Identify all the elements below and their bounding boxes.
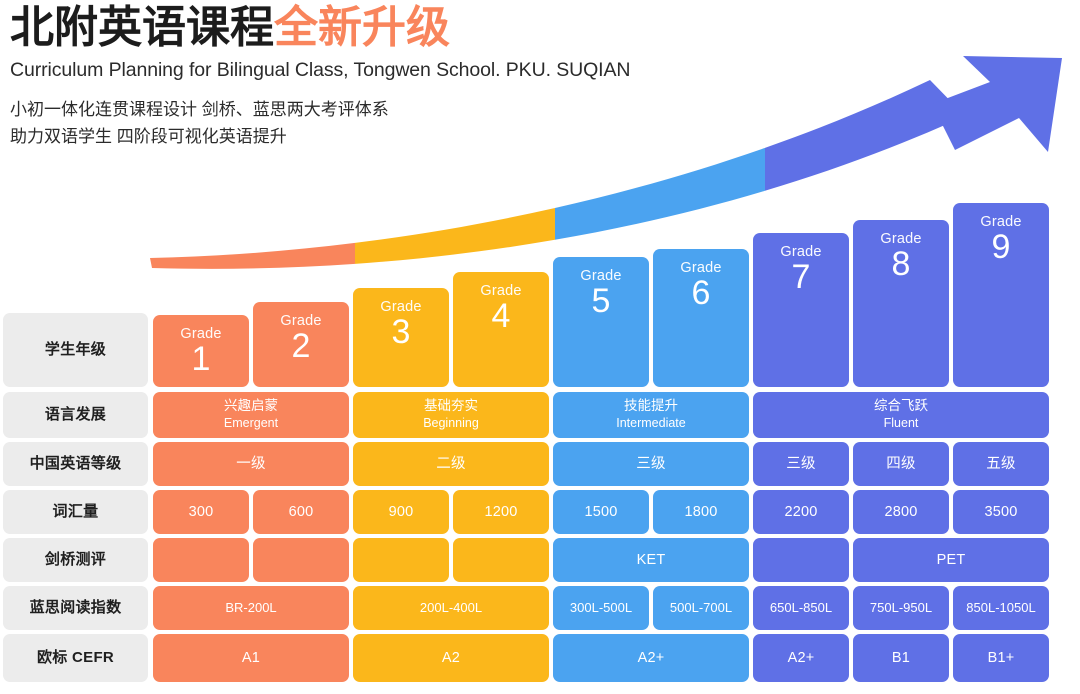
grade-number: 6 xyxy=(692,276,711,311)
grade-number: 1 xyxy=(192,342,211,377)
grade-word: Grade xyxy=(480,282,521,300)
cambridge-assessment-cell-5: KET xyxy=(553,538,749,582)
grade-number: 5 xyxy=(592,284,611,319)
cefr-level-cell-3: A2+ xyxy=(553,634,749,682)
cambridge-assessment-cell-3 xyxy=(353,538,449,582)
cefr-level-cell-4: A2+ xyxy=(753,634,849,682)
cell-value: 1200 xyxy=(484,503,517,521)
cell-value: 五级 xyxy=(986,455,1015,473)
lexile-index-cell-1: BR-200L xyxy=(153,586,349,630)
grade-card-4: Grade4 xyxy=(453,272,549,387)
page-title: 北附英语课程全新升级 xyxy=(10,4,730,52)
vocabulary-cell-7: 2200 xyxy=(753,490,849,534)
cambridge-assessment-cell-6 xyxy=(753,538,849,582)
grade-word: Grade xyxy=(580,267,621,285)
cell-value: 2200 xyxy=(784,503,817,521)
cell-value: 750L-950L xyxy=(870,600,932,616)
lexile-index-cell-7: 850L-1050L xyxy=(953,586,1049,630)
lexile-index-cell-5: 650L-850L xyxy=(753,586,849,630)
vocabulary-cell-9: 3500 xyxy=(953,490,1049,534)
cell-value: A2+ xyxy=(788,649,815,667)
cell-value: 1500 xyxy=(584,503,617,521)
grade-card-1: Grade1 xyxy=(153,315,249,387)
language-development-cell-4: 综合飞跃Fluent xyxy=(753,392,1049,438)
language-development-cell-3: 技能提升Intermediate xyxy=(553,392,749,438)
stage-label-cn: 综合飞跃 xyxy=(874,398,928,415)
lexile-index-cell-4: 500L-700L xyxy=(653,586,749,630)
cell-value: B1 xyxy=(892,649,910,667)
cell-value: 三级 xyxy=(786,455,815,473)
row-label-text: 语言发展 xyxy=(45,406,106,425)
subtitle-english: Curriculum Planning for Bilingual Class,… xyxy=(10,59,730,82)
cell-value: 二级 xyxy=(436,455,465,473)
vocabulary-cell-8: 2800 xyxy=(853,490,949,534)
row-label-2: 语言发展 xyxy=(3,392,148,438)
cell-value: 600 xyxy=(289,503,314,521)
grade-card-6: Grade6 xyxy=(653,249,749,387)
vocabulary-cell-4: 1200 xyxy=(453,490,549,534)
grade-card-7: Grade7 xyxy=(753,233,849,387)
grade-number: 9 xyxy=(992,230,1011,265)
row-label-3: 中国英语等级 xyxy=(3,442,148,486)
subtitle-chinese-line-2: 助力双语学生 四阶段可视化英语提升 xyxy=(10,123,730,151)
grade-word: Grade xyxy=(680,259,721,277)
grade-card-5: Grade5 xyxy=(553,257,649,387)
grade-word: Grade xyxy=(380,298,421,316)
cell-value: 300 xyxy=(189,503,214,521)
grade-number: 7 xyxy=(792,260,811,295)
grade-card-2: Grade2 xyxy=(253,302,349,387)
cell-value: 3500 xyxy=(984,503,1017,521)
cefr-level-cell-2: A2 xyxy=(353,634,549,682)
cambridge-assessment-cell-1 xyxy=(153,538,249,582)
language-development-cell-1: 兴趣启蒙Emergent xyxy=(153,392,349,438)
vocabulary-cell-3: 900 xyxy=(353,490,449,534)
vocabulary-cell-2: 600 xyxy=(253,490,349,534)
grade-card-3: Grade3 xyxy=(353,288,449,387)
row-label-text: 蓝思阅读指数 xyxy=(30,599,122,618)
lexile-index-cell-6: 750L-950L xyxy=(853,586,949,630)
grade-number: 3 xyxy=(392,315,411,350)
grade-word: Grade xyxy=(280,312,321,330)
row-label-text: 剑桥测评 xyxy=(45,551,106,570)
row-label-6: 蓝思阅读指数 xyxy=(3,586,148,630)
cell-value: 1800 xyxy=(684,503,717,521)
stage-label-en: Beginning xyxy=(423,416,479,432)
cell-value: A1 xyxy=(242,649,260,667)
cell-value: 2800 xyxy=(884,503,917,521)
cell-value: KET xyxy=(637,551,666,569)
cell-value: 850L-1050L xyxy=(966,600,1035,616)
cell-value: 四级 xyxy=(886,455,915,473)
cell-value: 500L-700L xyxy=(670,600,732,616)
stage-label-cn: 技能提升 xyxy=(624,398,678,415)
cell-value: 650L-850L xyxy=(770,600,832,616)
china-english-level-cell-5: 四级 xyxy=(853,442,949,486)
cefr-level-cell-6: B1+ xyxy=(953,634,1049,682)
lexile-index-cell-3: 300L-500L xyxy=(553,586,649,630)
language-development-cell-2: 基础夯实Beginning xyxy=(353,392,549,438)
subtitle-chinese: 小初一体化连贯课程设计 剑桥、蓝思两大考评体系 助力双语学生 四阶段可视化英语提… xyxy=(10,96,730,151)
vocabulary-cell-5: 1500 xyxy=(553,490,649,534)
cefr-level-cell-5: B1 xyxy=(853,634,949,682)
cell-value: A2 xyxy=(442,649,460,667)
china-english-level-cell-2: 二级 xyxy=(353,442,549,486)
row-label-1: 学生年级 xyxy=(3,313,148,387)
cefr-level-cell-1: A1 xyxy=(153,634,349,682)
cell-value: A2+ xyxy=(638,649,665,667)
row-label-text: 中国英语等级 xyxy=(30,455,122,474)
cell-value: 300L-500L xyxy=(570,600,632,616)
vocabulary-cell-1: 300 xyxy=(153,490,249,534)
grade-word: Grade xyxy=(180,325,221,343)
grade-number: 2 xyxy=(292,329,311,364)
grade-word: Grade xyxy=(880,230,921,248)
page-title-main: 北附英语课程 xyxy=(10,3,274,52)
stage-label-cn: 兴趣启蒙 xyxy=(224,398,278,415)
grade-card-8: Grade8 xyxy=(853,220,949,387)
china-english-level-cell-4: 三级 xyxy=(753,442,849,486)
cell-value: B1+ xyxy=(988,649,1015,667)
row-label-text: 欧标 CEFR xyxy=(37,649,114,668)
page-header: 北附英语课程全新升级 Curriculum Planning for Bilin… xyxy=(10,4,730,151)
grade-number: 4 xyxy=(492,299,511,334)
china-english-level-cell-3: 三级 xyxy=(553,442,749,486)
cell-value: BR-200L xyxy=(225,600,276,616)
china-english-level-cell-6: 五级 xyxy=(953,442,1049,486)
row-label-7: 欧标 CEFR xyxy=(3,634,148,682)
cell-value: 三级 xyxy=(636,455,665,473)
cell-value: 200L-400L xyxy=(420,600,482,616)
stage-label-en: Fluent xyxy=(884,416,919,432)
vocabulary-cell-6: 1800 xyxy=(653,490,749,534)
row-label-text: 词汇量 xyxy=(53,503,99,522)
cell-value: 一级 xyxy=(236,455,265,473)
grade-card-9: Grade9 xyxy=(953,203,1049,387)
grade-word: Grade xyxy=(980,213,1021,231)
cell-value: 900 xyxy=(389,503,414,521)
cambridge-assessment-cell-4 xyxy=(453,538,549,582)
lexile-index-cell-2: 200L-400L xyxy=(353,586,549,630)
stage-label-cn: 基础夯实 xyxy=(424,398,478,415)
subtitle-chinese-line-1: 小初一体化连贯课程设计 剑桥、蓝思两大考评体系 xyxy=(10,96,730,124)
grade-word: Grade xyxy=(780,243,821,261)
cell-value: PET xyxy=(937,551,966,569)
cambridge-assessment-cell-2 xyxy=(253,538,349,582)
row-label-5: 剑桥测评 xyxy=(3,538,148,582)
stage-label-en: Emergent xyxy=(224,416,278,432)
cambridge-assessment-cell-7: PET xyxy=(853,538,1049,582)
china-english-level-cell-1: 一级 xyxy=(153,442,349,486)
stage-label-en: Intermediate xyxy=(616,416,685,432)
grade-number: 8 xyxy=(892,247,911,282)
row-label-4: 词汇量 xyxy=(3,490,148,534)
row-label-text: 学生年级 xyxy=(45,341,106,360)
page-title-accent: 全新升级 xyxy=(274,3,450,52)
